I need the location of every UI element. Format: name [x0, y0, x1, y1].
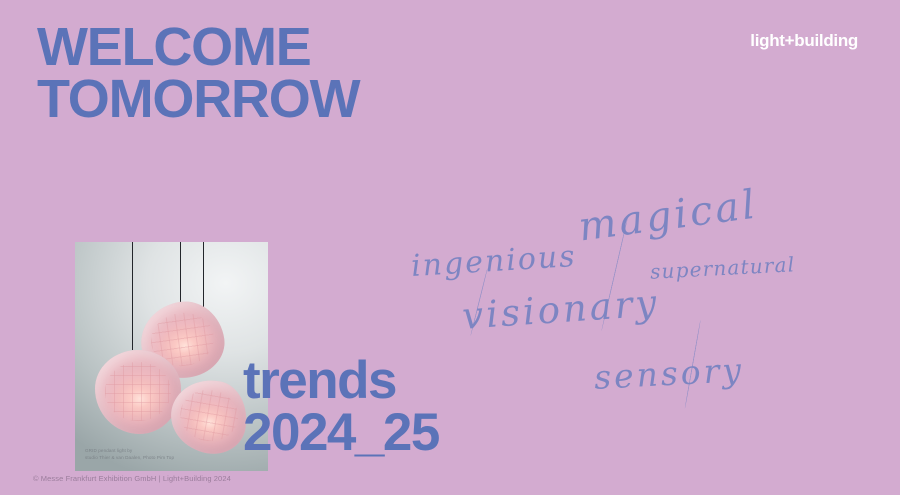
trend-word-visionary: visionary [461, 281, 661, 338]
trends-years: 2024_25 [243, 407, 439, 459]
trends-label: trends [243, 355, 439, 407]
copyright-notice: © Messe Frankfurt Exhibition GmbH | Ligh… [33, 474, 231, 483]
trend-word-magical: magical [576, 181, 761, 250]
product-photo: GRID pendant light by studio Thier & van… [75, 242, 268, 471]
poster-canvas: light+building WELCOME TOMORROW GRID pen… [0, 0, 900, 495]
trends-lockup: trends 2024_25 [243, 355, 439, 459]
headline-line-1: WELCOME [37, 22, 359, 74]
trend-word-supernatural: supernatural [649, 252, 795, 284]
photo-stage [75, 242, 268, 471]
trend-word-sensory: sensory [593, 350, 745, 397]
pendant-cord-icon [180, 242, 181, 308]
page-title: WELCOME TOMORROW [37, 22, 359, 126]
photo-credit-line-2: studio Thier & van Daalen, Photo Pim Top [85, 455, 174, 462]
pendant-lamp-shape [95, 350, 181, 434]
photo-credit-line-1: GRID pendant light by [85, 448, 174, 455]
light-building-logo: light+building [750, 32, 858, 49]
pendant-cord-icon [132, 242, 133, 350]
photo-credit: GRID pendant light by studio Thier & van… [85, 448, 174, 462]
trend-word-ingenious: ingenious [410, 239, 577, 284]
headline-line-2: TOMORROW [37, 74, 359, 126]
